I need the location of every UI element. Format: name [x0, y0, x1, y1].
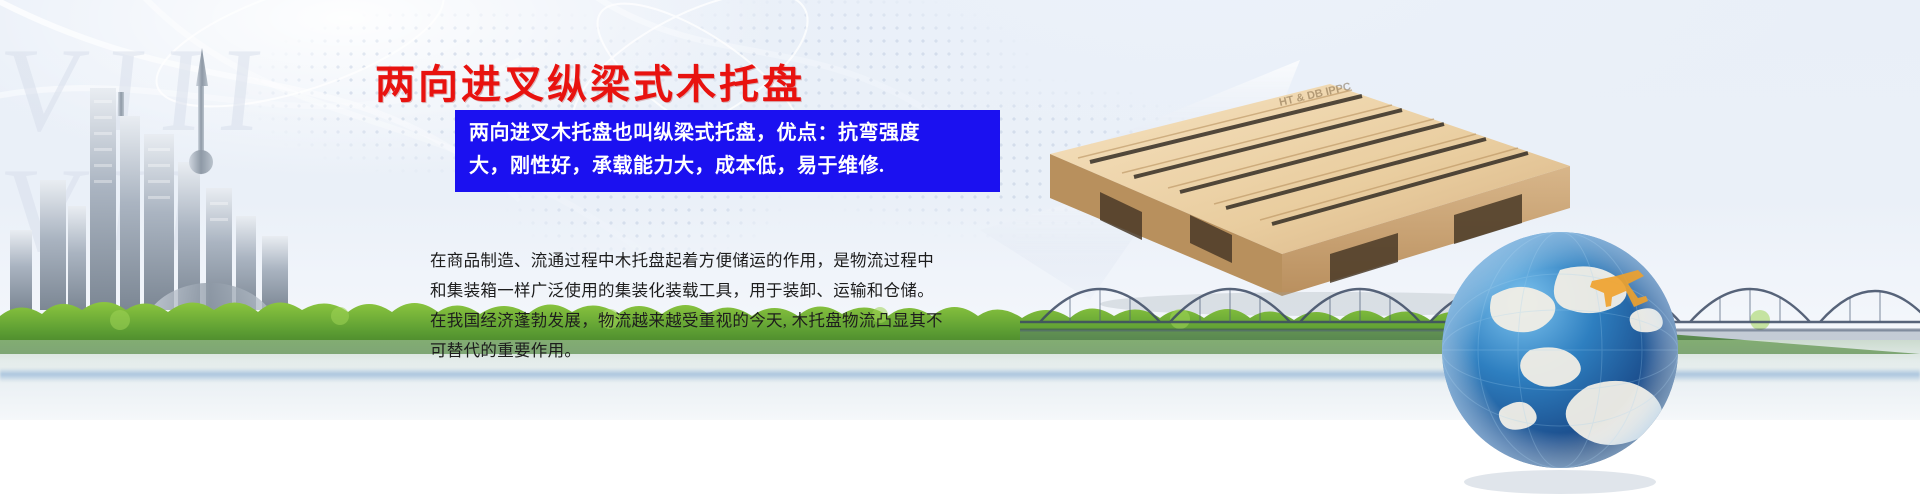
description-line-1: 在商品制造、流通过程中木托盘起着方便储运的作用，是物流过程中	[430, 246, 1020, 276]
description-line-2: 和集装箱一样广泛使用的集装化装载工具，用于装卸、运输和仓储。	[430, 276, 1020, 306]
blue-globe-graphic	[1410, 200, 1710, 500]
description-paragraph: 在商品制造、流通过程中木托盘起着方便储运的作用，是物流过程中 和集装箱一样广泛使…	[430, 246, 1020, 366]
product-banner: VIII VII	[0, 0, 1920, 500]
highlight-line-1: 两向进叉木托盘也叫纵梁式托盘，优点：抗弯强度	[469, 117, 988, 150]
page-title: 两向进叉纵梁式木托盘	[375, 52, 1015, 110]
description-line-3: 在我国经济蓬勃发展，物流越来越受重视的今天, 木托盘物流凸显其不	[430, 306, 1020, 336]
highlight-callout-box: 两向进叉木托盘也叫纵梁式托盘，优点：抗弯强度 大，刚性好，承载能力大，成本低，易…	[455, 110, 1000, 192]
highlight-line-2: 大，刚性好，承载能力大，成本低，易于维修.	[469, 150, 988, 183]
city-skyline-silhouette	[0, 30, 420, 330]
description-line-4: 可替代的重要作用。	[430, 336, 1020, 366]
